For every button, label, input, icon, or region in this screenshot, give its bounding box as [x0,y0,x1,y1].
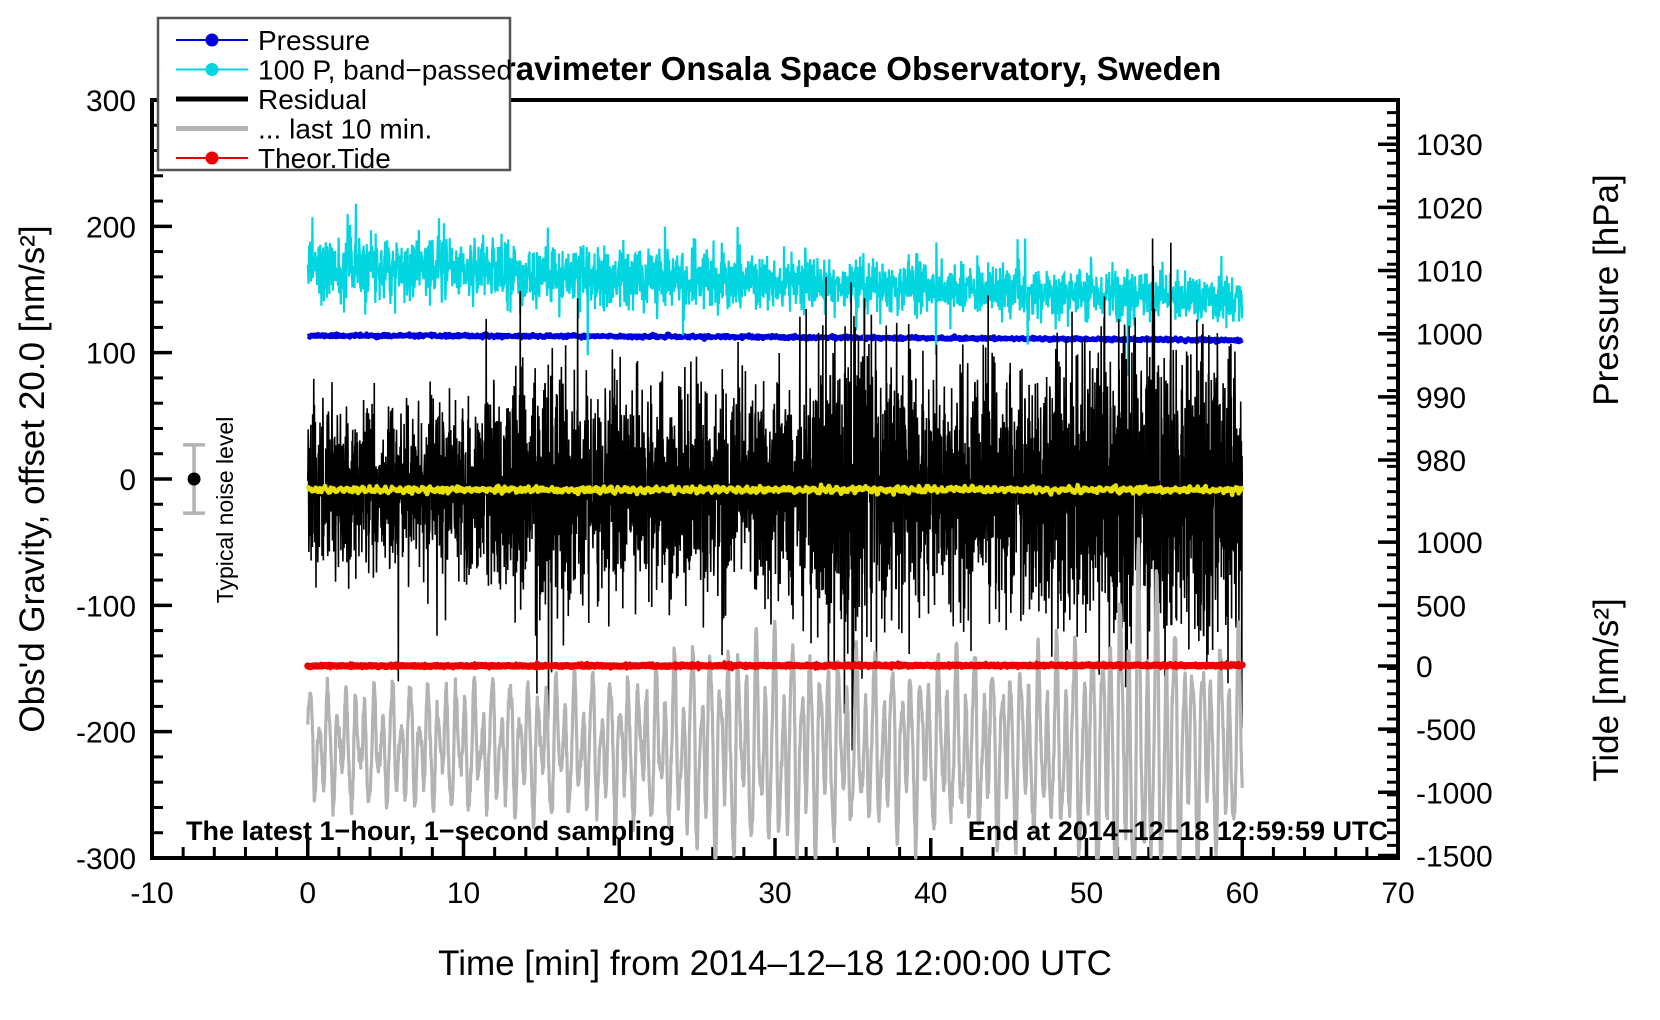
y-tick-label-right-tide: 1000 [1416,527,1483,560]
y-tick-label-left: -300 [76,843,136,876]
y-axis-title-right-pressure: Pressure [hPa] [1587,174,1626,406]
legend-item-label: ... last 10 min. [258,114,432,145]
y-tick-label-right-pressure: 1020 [1416,192,1483,225]
chart-page: 3002001000-100-200-300 -1001020304050607… [0,0,1660,1020]
sampling-note: The latest 1−hour, 1−second sampling [186,816,675,846]
legend: Pressure100 P, band−passedResidual... la… [158,18,512,174]
x-tick-label: 40 [914,877,947,910]
y-tick-label-right-tide: -1500 [1416,840,1493,873]
x-tick-label: -10 [130,877,173,910]
x-tick-label: 30 [758,877,791,910]
y-tick-label-right-pressure: 1000 [1416,319,1483,352]
legend-item-label: Theor.Tide [258,143,391,174]
x-tick-label: 70 [1381,877,1414,910]
x-axis-title: Time [min] from 2014‒12‒18 12:00:00 UTC [438,944,1112,983]
y-axis-title-left: Obs'd Gravity, offset 20.0 [nm/s²] [13,225,52,732]
legend-item-label: Pressure [258,25,370,56]
x-tick-label: 0 [299,877,316,910]
y-tick-label-left: 0 [119,464,136,497]
x-tick-label: 10 [447,877,480,910]
y-tick-label-left: 300 [86,85,136,118]
y-tick-label-right-pressure: 980 [1416,445,1466,478]
y-tick-label-left: 200 [86,211,136,244]
y-tick-label-right-tide: -1000 [1416,777,1493,810]
legend-swatch-marker [206,63,219,76]
x-tick-label: 20 [603,877,636,910]
legend-item-label: Residual [258,84,367,115]
y-tick-label-left: -100 [76,590,136,623]
x-tick-label: 60 [1226,877,1259,910]
y-axis-title-right-tide: Tide [nm/s²] [1587,598,1626,781]
y-tick-label-right-tide: -500 [1416,714,1476,747]
end-time-note: End at 2014−12−18 12:59:59 UTC [968,816,1388,846]
y-tick-label-right-pressure: 1030 [1416,129,1483,162]
y-tick-label-right-pressure: 1010 [1416,256,1483,289]
legend-swatch-marker [206,152,219,165]
noise-center-dot [188,473,201,486]
y-tick-label-left: 100 [86,338,136,371]
noise-level-label: Typical noise level [212,417,238,604]
y-tick-label-right-tide: 500 [1416,590,1466,623]
y-tick-label-left: -200 [76,717,136,750]
legend-item-label: 100 P, band−passed [258,55,512,86]
legend-swatch-marker [206,34,219,47]
x-tick-label: 50 [1070,877,1103,910]
trace-theoretical-tide [308,665,1243,667]
y-tick-label-right-tide: 0 [1416,651,1433,684]
y-tick-label-right-pressure: 990 [1416,382,1466,415]
gravimeter-timeseries-chart: 3002001000-100-200-300 -1001020304050607… [0,0,1660,1020]
